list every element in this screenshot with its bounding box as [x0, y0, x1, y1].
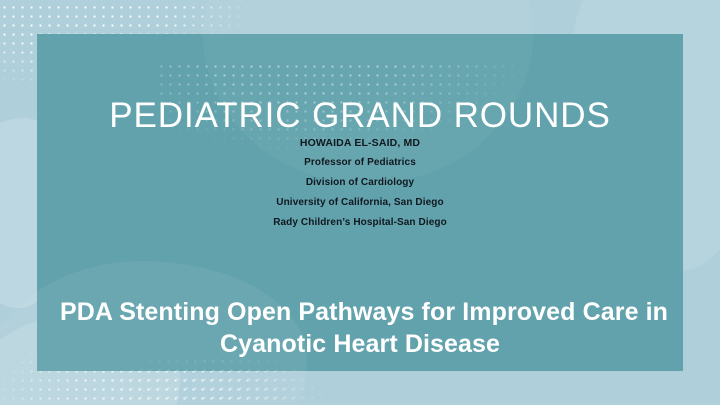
- subtitle-line-1: PDA Stenting Open Pathways for Improved …: [60, 296, 660, 328]
- presenter-role: Professor of Pediatrics: [0, 153, 720, 173]
- presenter-division: Division of Cardiology: [0, 173, 720, 193]
- presenter-university: University of California, San Diego: [0, 193, 720, 213]
- slide-content: PEDIATRIC GRAND ROUNDS HOWAIDA EL-SAID, …: [0, 0, 720, 405]
- presenter-hospital: Rady Children’s Hospital-San Diego: [0, 213, 720, 233]
- presenter-name: HOWAIDA EL-SAID, MD: [0, 133, 720, 153]
- title-slide: PEDIATRIC GRAND ROUNDS HOWAIDA EL-SAID, …: [0, 0, 720, 405]
- subtitle-line-2: Cyanotic Heart Disease: [60, 328, 660, 360]
- presenter-details: HOWAIDA EL-SAID, MD Professor of Pediatr…: [0, 133, 720, 233]
- slide-main-title: PEDIATRIC GRAND ROUNDS: [0, 98, 720, 133]
- slide-subtitle: PDA Stenting Open Pathways for Improved …: [60, 296, 660, 360]
